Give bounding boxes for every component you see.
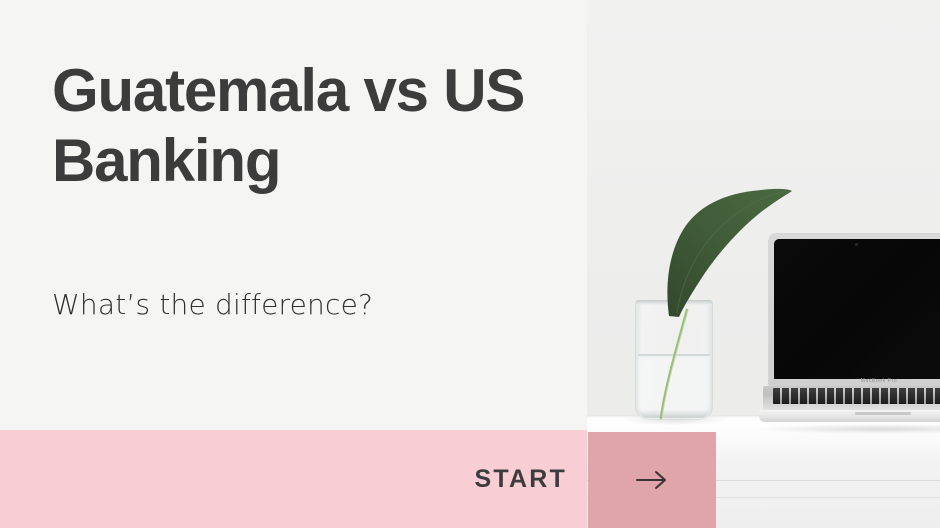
start-arrow-button[interactable] — [588, 432, 716, 528]
laptop-lid: MacBook Pro — [769, 234, 940, 386]
laptop-brand-label: MacBook Pro — [769, 378, 940, 384]
laptop-front-notch — [855, 412, 911, 415]
start-bar[interactable]: START — [0, 430, 587, 528]
start-button-label[interactable]: START — [475, 430, 567, 528]
green-leaf-icon — [649, 183, 794, 318]
arrow-right-icon[interactable] — [635, 469, 669, 491]
presentation-slide: Guatemala vs US Banking What’s the diffe… — [0, 0, 940, 528]
laptop-webcam-icon — [855, 243, 858, 246]
page-subtitle: What’s the difference? — [52, 288, 373, 321]
laptop-screen — [774, 239, 940, 379]
laptop-keyboard-shading — [773, 388, 940, 404]
leaf-stem — [647, 302, 767, 420]
title-panel: Guatemala vs US Banking What’s the diffe… — [0, 0, 587, 430]
laptop-macbook-pro: MacBook Pro — [769, 234, 940, 426]
page-title: Guatemala vs US Banking — [52, 56, 572, 196]
laptop-front-edge — [759, 410, 940, 422]
